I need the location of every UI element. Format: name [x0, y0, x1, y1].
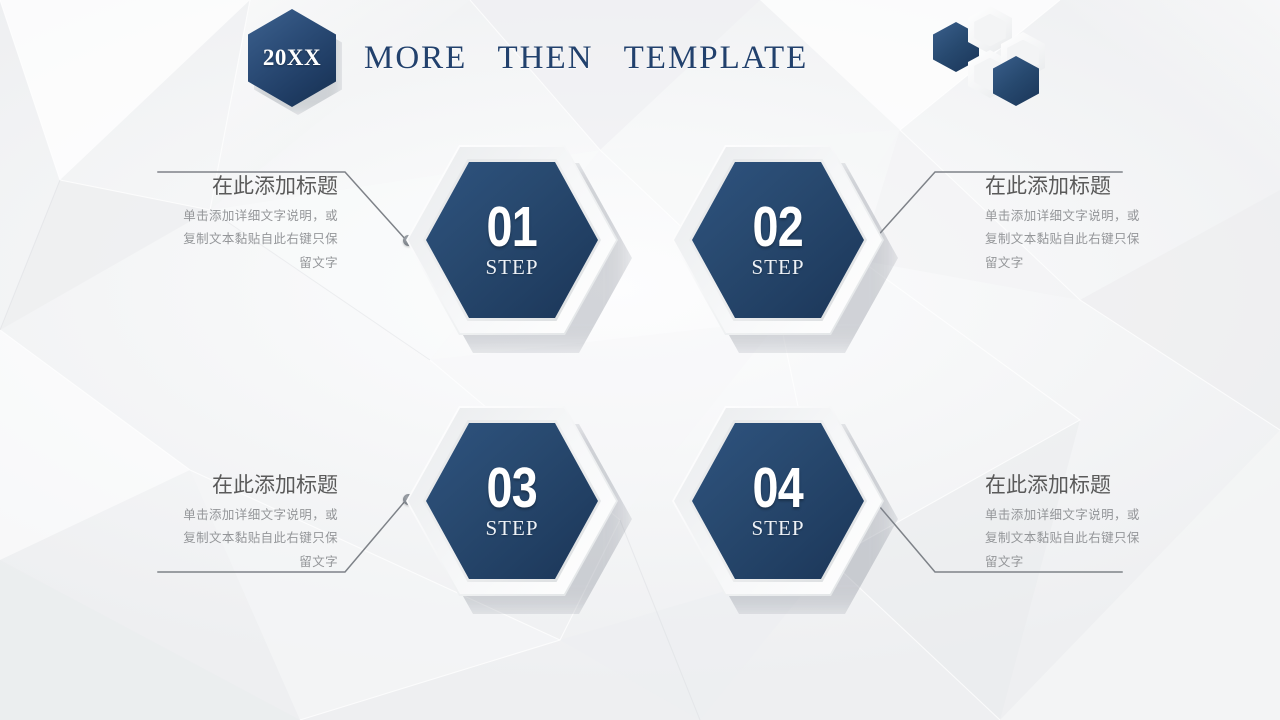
step-04-number: 04 [753, 461, 803, 515]
text-block-2-body: 单击添加详细文字说明，或复制文本黏贴自此右键只保留文字 [985, 205, 1205, 274]
text-block-1-title: 在此添加标题 [118, 174, 338, 200]
step-hexagon-01[interactable]: 01 STEP [406, 145, 618, 335]
step-hexagon-03[interactable]: 03 STEP [406, 406, 618, 596]
text-block-4: 在此添加标题 单击添加详细文字说明，或复制文本黏贴自此右键只保留文字 [985, 473, 1205, 574]
text-block-4-title: 在此添加标题 [985, 473, 1205, 499]
step-03-content: 03 STEP [406, 406, 618, 596]
text-block-2: 在此添加标题 单击添加详细文字说明，或复制文本黏贴自此右键只保留文字 [985, 174, 1205, 275]
step-02-number: 02 [753, 200, 803, 254]
step-01-number: 01 [487, 200, 537, 254]
step-02-content: 02 STEP [672, 145, 884, 335]
text-block-1: 在此添加标题 单击添加详细文字说明，或复制文本黏贴自此右键只保留文字 [118, 174, 338, 275]
step-03-number: 03 [487, 461, 537, 515]
text-block-2-title: 在此添加标题 [985, 174, 1205, 200]
slide-canvas: 20XX MORE THEN TEMPLATE 01 STEP [0, 0, 1280, 720]
text-block-4-body: 单击添加详细文字说明，或复制文本黏贴自此右键只保留文字 [985, 504, 1205, 573]
step-hexagon-02[interactable]: 02 STEP [672, 145, 884, 335]
text-block-3-body: 单击添加详细文字说明，或复制文本黏贴自此右键只保留文字 [118, 504, 338, 573]
text-block-3: 在此添加标题 单击添加详细文字说明，或复制文本黏贴自此右键只保留文字 [118, 473, 338, 574]
step-01-content: 01 STEP [406, 145, 618, 335]
connector-lines [0, 0, 1280, 720]
text-block-1-body: 单击添加详细文字说明，或复制文本黏贴自此右键只保留文字 [118, 205, 338, 274]
step-hexagon-04[interactable]: 04 STEP [672, 406, 884, 596]
text-block-3-title: 在此添加标题 [118, 473, 338, 499]
year-badge-label: 20XX [263, 45, 321, 71]
step-04-content: 04 STEP [672, 406, 884, 596]
